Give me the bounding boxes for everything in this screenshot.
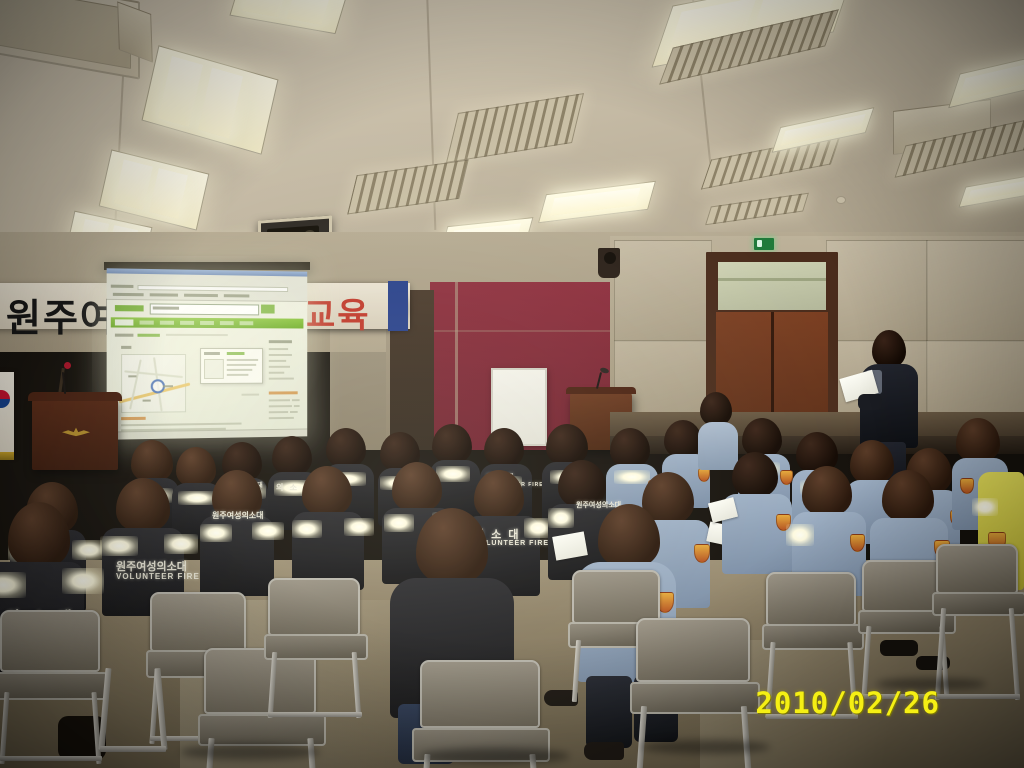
podium-top [28, 392, 122, 401]
shadow [180, 744, 320, 760]
wall-tile [826, 240, 928, 342]
banner-text-right: 교육 [304, 288, 371, 337]
map-info-popup [200, 348, 263, 384]
site-logo [115, 305, 144, 311]
shoe [584, 742, 624, 760]
korean-flag [0, 372, 14, 456]
projection-screen [107, 268, 308, 440]
shoe [880, 640, 918, 656]
camera-date-stamp: 2010/02/26 [755, 686, 940, 720]
microphone-stem [62, 372, 66, 394]
podium-top [566, 387, 636, 394]
door-transom-window [718, 262, 826, 310]
podium-left [32, 398, 118, 470]
wall-seam [430, 330, 610, 332]
exit-sign [754, 238, 774, 250]
flag-fringe [0, 452, 14, 460]
browser-statusbar [107, 428, 308, 439]
shadow [640, 740, 770, 754]
shadow [420, 748, 570, 764]
podium-emblem [62, 426, 90, 440]
speaker-cone-icon [604, 252, 616, 264]
attendee-trousers [586, 676, 632, 748]
presenter-head [872, 330, 906, 368]
search-button[interactable] [261, 305, 275, 314]
flag-pole-finial [64, 362, 71, 369]
banner-accent [388, 281, 408, 331]
map-area[interactable] [121, 354, 186, 413]
presenter-arm [858, 394, 882, 410]
wall-tile [614, 240, 712, 342]
photograph: 원주여성 교육 [0, 0, 1024, 768]
wall-tile [926, 240, 1024, 342]
smoke-detector-icon [836, 196, 846, 204]
transom-reflection [718, 278, 826, 281]
